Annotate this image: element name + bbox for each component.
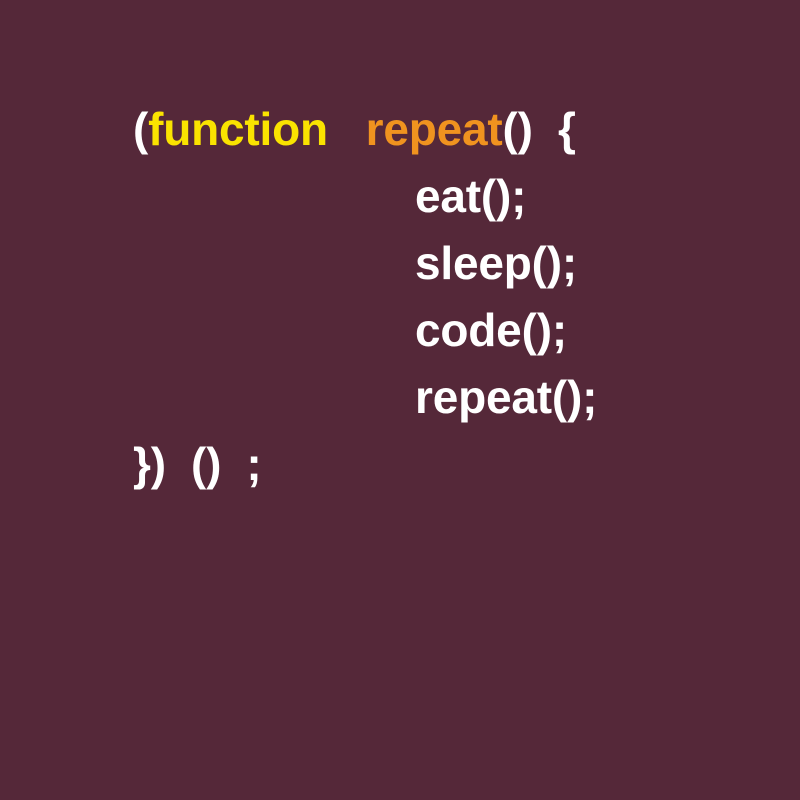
code-token-space [166, 438, 191, 490]
code-line: (function repeat() { [133, 96, 773, 163]
code-token-punctuation: ( [133, 103, 148, 155]
code-token-punctuation: (); [532, 237, 577, 289]
code-line: }) () ; [133, 431, 773, 498]
code-token-space [328, 103, 366, 155]
code-token-punctuation: (); [522, 304, 567, 356]
code-token-identifier: eat [415, 170, 481, 222]
code-token-space [221, 438, 246, 490]
code-image-canvas: (function repeat() {eat();sleep();code()… [0, 0, 800, 800]
code-token-punctuation: () [503, 103, 533, 155]
code-block: (function repeat() {eat();sleep();code()… [133, 96, 773, 498]
code-token-identifier: repeat [415, 371, 552, 423]
code-line: repeat(); [133, 364, 773, 431]
code-token-punctuation: (); [552, 371, 597, 423]
code-token-identifier: code [415, 304, 522, 356]
code-token-identifier: sleep [415, 237, 532, 289]
code-token-keyword: function [148, 103, 328, 155]
code-token-punctuation: }) [133, 438, 166, 490]
code-line: code(); [133, 297, 773, 364]
code-token-punctuation: () [191, 438, 221, 490]
code-token-punctuation: ; [246, 438, 261, 490]
code-token-space [533, 103, 558, 155]
code-line: eat(); [133, 163, 773, 230]
code-token-punctuation: (); [481, 170, 526, 222]
code-line: sleep(); [133, 230, 773, 297]
code-token-function-name: repeat [366, 103, 503, 155]
code-token-punctuation: { [558, 103, 576, 155]
